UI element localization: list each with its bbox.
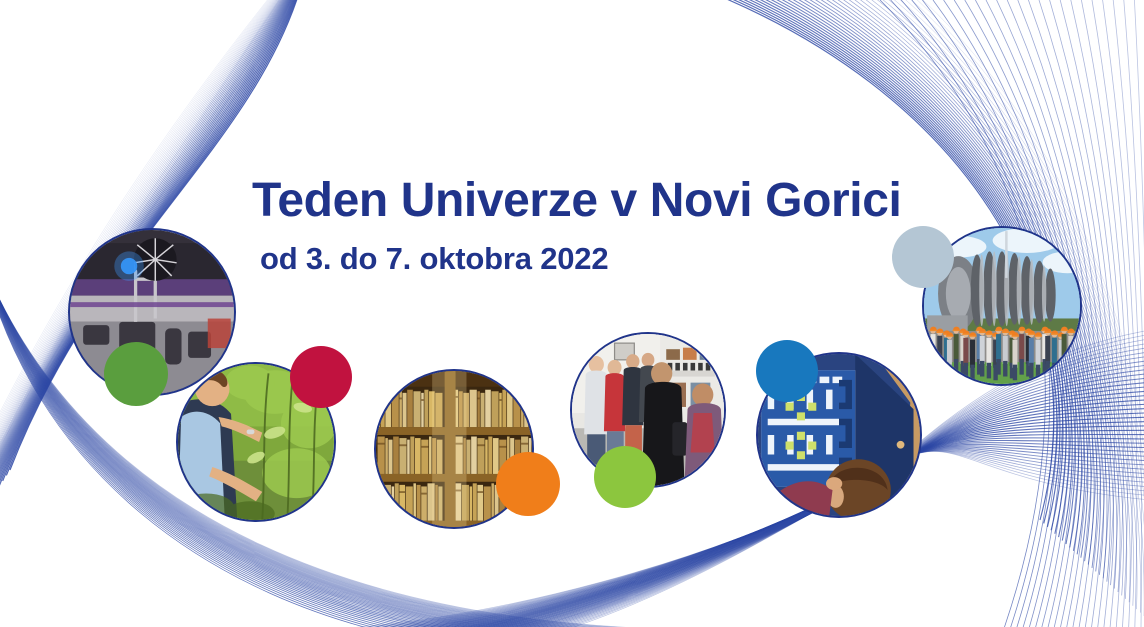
poster-date-subtitle: od 3. do 7. oktobra 2022 <box>260 241 952 277</box>
accent-blue-dot <box>756 340 818 402</box>
page-title: Teden Univerze v Novi Gorici <box>252 176 952 227</box>
headline-block: Teden Univerze v Novi Gorici od 3. do 7.… <box>252 176 952 277</box>
accent-green-dot <box>104 342 168 406</box>
poster-canvas: Teden Univerze v Novi Gorici od 3. do 7.… <box>0 0 1144 627</box>
accent-lime-dot <box>594 446 656 508</box>
accent-orange-dot <box>496 452 560 516</box>
accent-crimson-dot <box>290 346 352 408</box>
